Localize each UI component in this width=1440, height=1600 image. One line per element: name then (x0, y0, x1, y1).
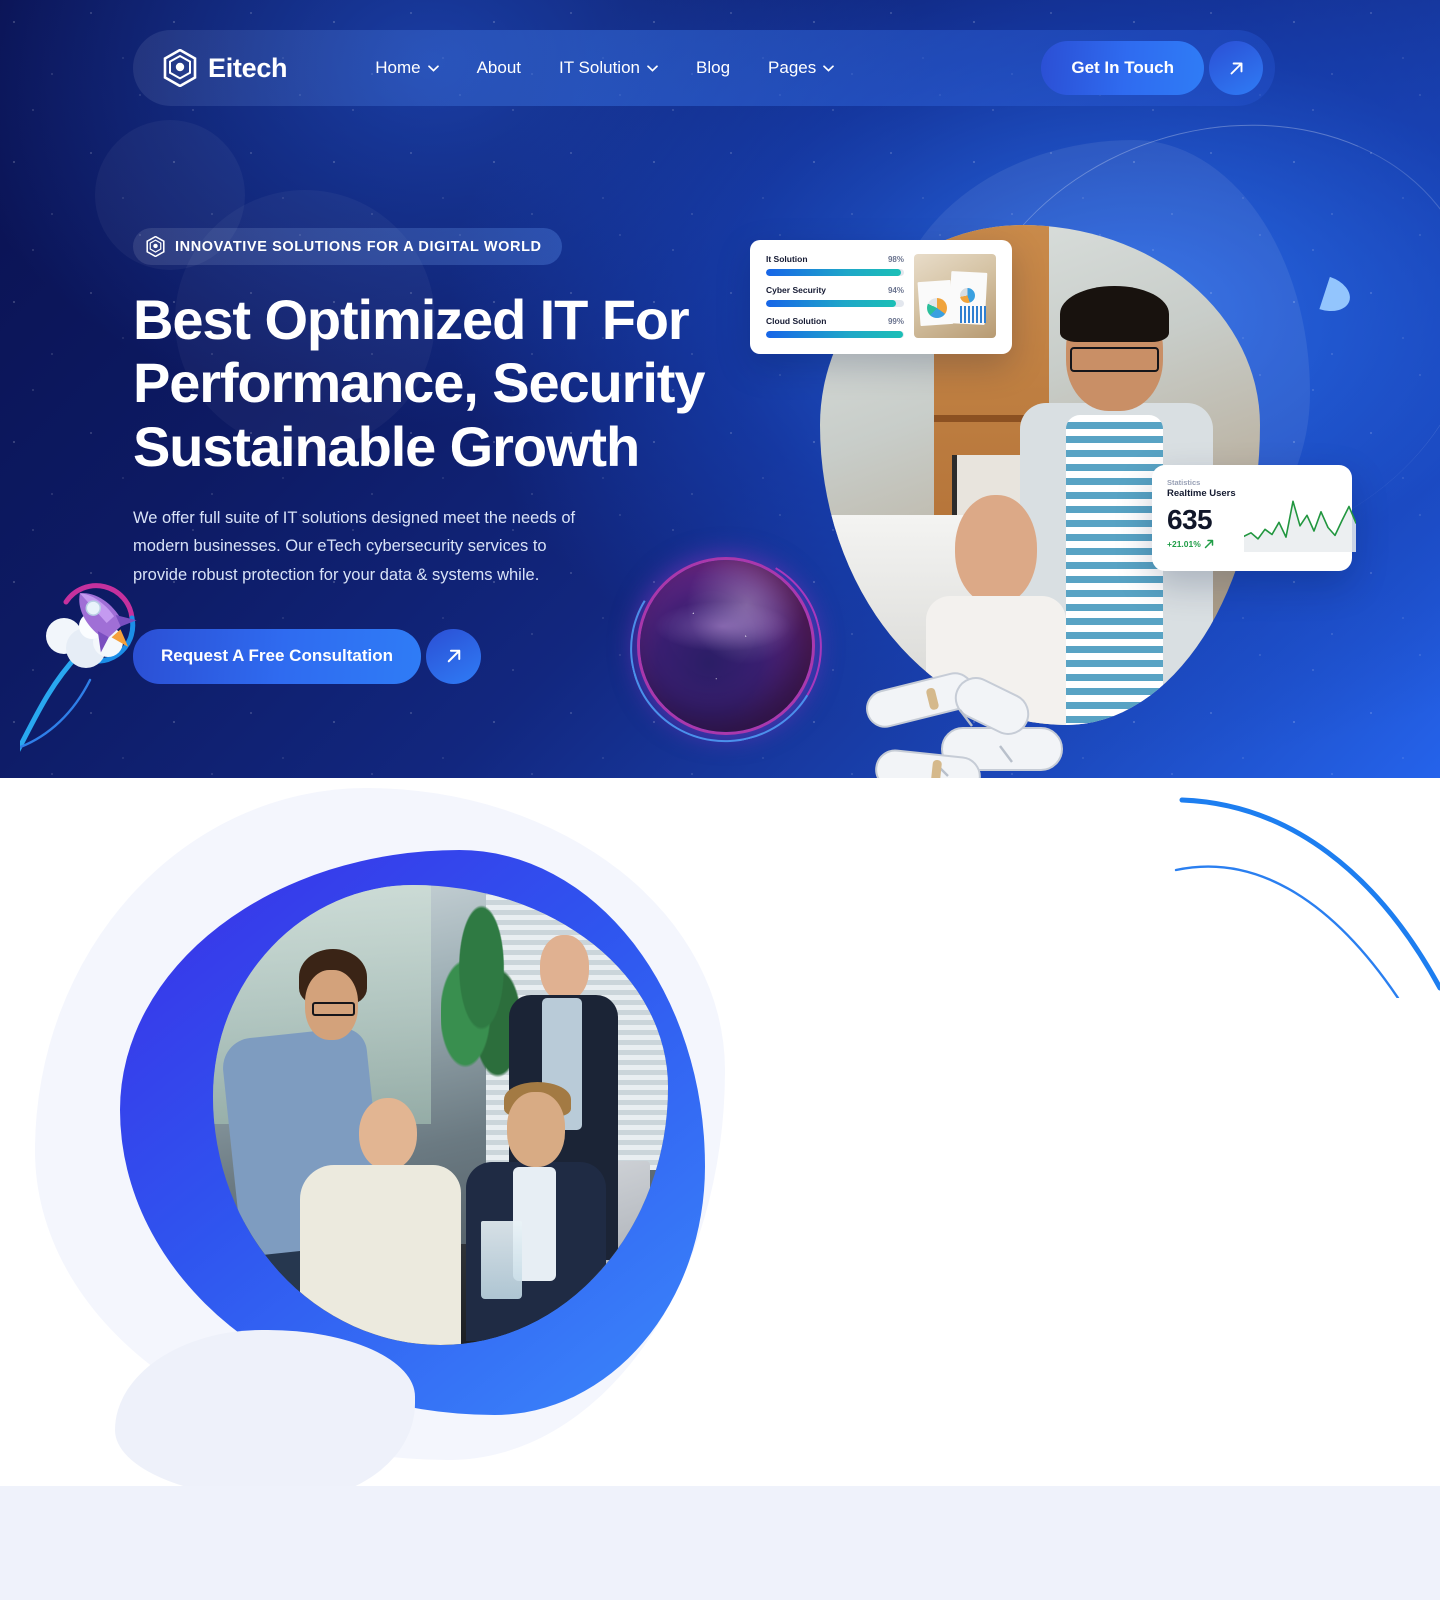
request-consultation-arrow-button[interactable] (426, 629, 481, 684)
realtime-users-card: Statistics Realtime Users 635 +21.01% (1152, 465, 1352, 571)
hero-skill-percent: 94% (888, 286, 904, 295)
hero-skill-percent: 98% (888, 255, 904, 264)
realtime-delta-value: +21.01% (1167, 539, 1201, 549)
nav-item-label: IT Solution (559, 58, 640, 78)
nav-item-label: Pages (768, 58, 816, 78)
nav-item-blog[interactable]: Blog (696, 58, 730, 78)
hero-skill-row: Cyber Security 94% (766, 285, 904, 307)
realtime-card-delta: +21.01% (1167, 539, 1236, 549)
decorative-curves (1140, 778, 1440, 998)
main-navbar: Eitech Home About IT Solution Blog Pages (133, 30, 1275, 106)
trend-up-arrow-icon (1204, 539, 1214, 549)
hero-skill-row: Cloud Solution 99% (766, 316, 904, 338)
hero-skill-label: Cloud Solution (766, 316, 826, 326)
realtime-sparkline-chart (1244, 496, 1356, 557)
hero-skill-bars: It Solution 98% Cyber Security 94% Cloud… (766, 254, 904, 338)
request-consultation-button[interactable]: Request A Free Consultation (133, 629, 421, 684)
get-in-touch-button[interactable]: Get In Touch (1041, 41, 1204, 95)
about-team-photo (213, 885, 668, 1345)
hero-title-line-2: Performance, Security (133, 351, 704, 414)
realtime-card-value: 635 (1167, 506, 1236, 534)
hexagon-logo-icon (163, 49, 197, 87)
nav-item-about[interactable]: About (477, 58, 521, 78)
globe-network-icon (640, 560, 812, 732)
chevron-down-icon (647, 65, 658, 72)
nav-item-label: Home (375, 58, 420, 78)
hero-skill-label: It Solution (766, 254, 808, 264)
arrow-up-right-icon (1227, 59, 1246, 78)
brand-logo[interactable]: Eitech (163, 49, 287, 87)
nav-item-label: About (477, 58, 521, 78)
hero-image-collage: It Solution 98% Cyber Security 94% Cloud… (620, 130, 1410, 770)
brand-name: Eitech (208, 53, 287, 84)
hero-skill-track (766, 331, 904, 338)
realtime-card-title: Realtime Users (1167, 488, 1236, 499)
hero-skill-track (766, 269, 904, 276)
sparkline-svg (1244, 496, 1356, 552)
hero-badge-label: INNOVATIVE SOLUTIONS FOR A DIGITAL WORLD (175, 239, 542, 255)
hero-title-line-1: Best Optimized IT For (133, 288, 689, 351)
nav-links: Home About IT Solution Blog Pages (375, 58, 834, 78)
robot-hand-icon (832, 578, 1092, 778)
realtime-card-subtitle: Statistics (1167, 478, 1236, 487)
nav-item-pages[interactable]: Pages (768, 58, 834, 78)
chevron-down-icon (823, 65, 834, 72)
hero-description: We offer full suite of IT solutions desi… (133, 504, 603, 589)
nav-item-home[interactable]: Home (375, 58, 438, 78)
hero-skill-card-thumbnail (914, 254, 996, 338)
hero-section: Eitech Home About IT Solution Blog Pages (0, 0, 1440, 778)
bottom-band (0, 1486, 1440, 1600)
hero-skill-label: Cyber Security (766, 285, 826, 295)
hexagon-logo-icon (146, 236, 165, 257)
hero-title-line-3: Sustainable Growth (133, 415, 639, 478)
arrow-up-right-icon (444, 646, 464, 666)
hero-skill-percent: 99% (888, 317, 904, 326)
get-in-touch-arrow-button[interactable] (1209, 41, 1263, 95)
hero-badge: INNOVATIVE SOLUTIONS FOR A DIGITAL WORLD (133, 228, 562, 265)
chevron-down-icon (428, 65, 439, 72)
navbar-cta-group: Get In Touch (1041, 41, 1263, 95)
hero-skill-card: It Solution 98% Cyber Security 94% Cloud… (750, 240, 1012, 354)
about-photo-person-2 (286, 1087, 468, 1345)
nav-item-label: Blog (696, 58, 730, 78)
nav-item-it-solution[interactable]: IT Solution (559, 58, 658, 78)
hero-skill-row: It Solution 98% (766, 254, 904, 276)
hero-skill-track (766, 300, 904, 307)
